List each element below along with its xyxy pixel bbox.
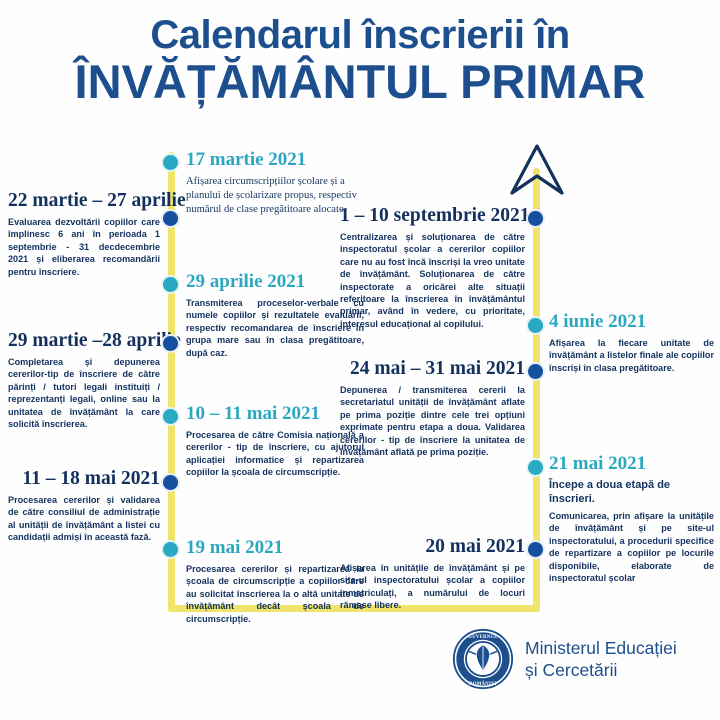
timeline-dot-20-mai [528,542,543,557]
entry-text: Transmiterea proceselor-verbale cu numel… [186,297,364,359]
title-line-1: Calendarul înscrierii în [0,12,720,58]
entry-text: Afișarea în unitățile de învățământ și p… [340,562,525,612]
title-line-2: ÎNVĂȚĂMÂNTUL PRIMAR [0,56,720,108]
entry-lead: Începe a doua etapă de înscrieri. [549,478,714,506]
entry-19-mai: 19 mai 2021 Procesarea cererilor și repa… [186,537,364,625]
timeline-dot-11-18-mai [163,475,178,490]
entry-text: Afișarea circumscripțiilor școlare și a … [186,175,361,217]
ministry-line-2: și Cercetării [525,659,677,681]
entry-text: Completarea și depunerea cererilor-tip d… [8,356,160,430]
timeline-dot-1-10-septembrie [528,211,543,226]
entry-text: Comunicarea, prin afișare la unitățile d… [549,510,714,584]
entry-20-mai: 20 mai 2021 Afișarea în unitățile de înv… [340,536,525,612]
timeline-dot-19-mai [163,542,178,557]
entry-22-martie-27-aprilie: 22 martie – 27 aprilie Evaluarea dezvolt… [8,190,160,278]
poster-root: Calendarul înscrierii în ÎNVĂȚĂMÂNTUL PR… [0,0,720,720]
entry-date: 19 mai 2021 [186,537,364,559]
government-seal-icon: GUVERNUL ROMÂNIEI [452,628,514,690]
timeline-dot-24-31-mai [528,364,543,379]
entry-date: 4 iunie 2021 [549,311,714,333]
entry-date: 1 – 10 septembrie 2021 [340,205,525,227]
entry-text: Evaluarea dezvoltării copiilor care împl… [8,216,160,278]
entry-1-10-septembrie: 1 – 10 septembrie 2021 Centralizarea și … [340,205,525,330]
entry-date: 21 mai 2021 [549,453,714,475]
svg-text:GUVERNUL: GUVERNUL [468,635,498,640]
entry-29-aprilie: 29 aprilie 2021 Transmiterea proceselor-… [186,271,364,359]
timeline-dot-22-martie [163,211,178,226]
timeline-dot-21-mai [528,460,543,475]
entry-date: 20 mai 2021 [340,536,525,558]
entry-4-iunie: 4 iunie 2021 Afișarea la fiecare unitate… [549,311,714,374]
entry-text: Depunerea / transmiterea cererii la secr… [340,384,525,458]
arrow-up-icon [508,143,566,199]
timeline-dot-29-martie [163,336,178,351]
entry-text: Procesarea de către Comisia națională a … [186,429,364,479]
entry-21-mai: 21 mai 2021 Începe a doua etapă de înscr… [549,453,714,584]
entry-text: Procesarea cererilor și validarea de căt… [8,494,160,544]
entry-29-martie-28-aprilie: 29 martie –28 aprilie Completarea și dep… [8,330,160,430]
entry-date: 29 martie –28 aprilie [8,330,160,352]
entry-date: 17 martie 2021 [186,149,361,171]
timeline-dot-10-11-mai [163,409,178,424]
entry-text: Afișarea la fiecare unitate de învățămân… [549,337,714,374]
page-title: Calendarul înscrierii în ÎNVĂȚĂMÂNTUL PR… [0,12,720,108]
timeline-dot-17-martie [163,155,178,170]
ministry-line-1: Ministerul Educației [525,637,677,659]
entry-date: 10 – 11 mai 2021 [186,403,364,425]
entry-date: 29 aprilie 2021 [186,271,364,293]
timeline-dot-4-iunie [528,318,543,333]
ministry-name: Ministerul Educației și Cercetării [525,637,677,681]
entry-11-18-mai: 11 – 18 mai 2021 Procesarea cererilor și… [8,468,160,544]
entry-24-31-mai: 24 mai – 31 mai 2021 Depunerea / transmi… [340,358,525,458]
entry-date: 22 martie – 27 aprilie [8,190,160,212]
entry-date: 11 – 18 mai 2021 [8,468,160,490]
timeline-dot-29-aprilie [163,277,178,292]
entry-text: Centralizarea și soluționarea de către i… [340,231,525,330]
svg-text:ROMÂNIEI: ROMÂNIEI [469,681,497,687]
entry-date: 24 mai – 31 mai 2021 [340,358,525,380]
entry-text: Procesarea cererilor și repartizarea la … [186,563,364,625]
entry-17-martie: 17 martie 2021 Afișarea circumscripțiilo… [186,149,361,217]
entry-10-11-mai: 10 – 11 mai 2021 Procesarea de către Com… [186,403,364,479]
footer: GUVERNUL ROMÂNIEI Ministerul Educației ș… [452,628,677,690]
